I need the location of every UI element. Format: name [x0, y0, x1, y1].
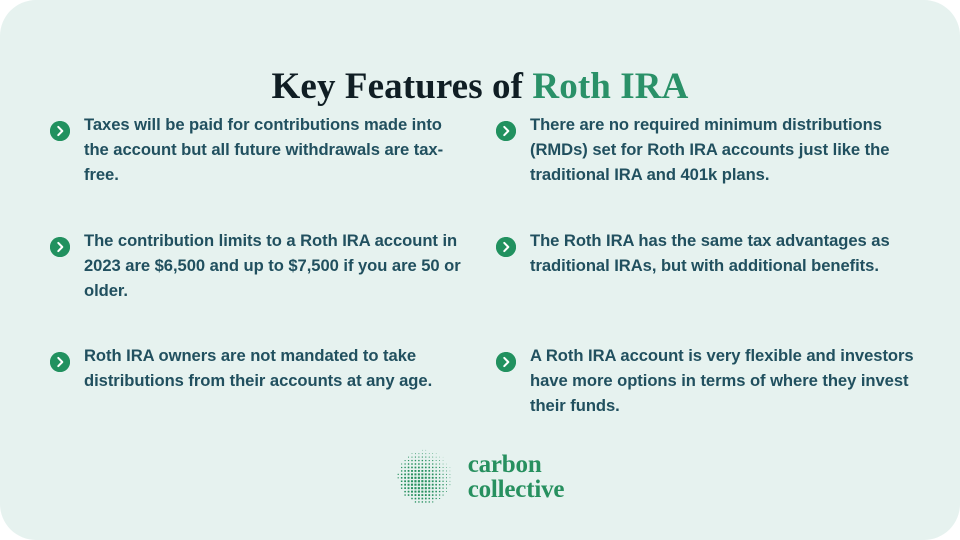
list-item-text: Taxes will be paid for contributions mad…	[84, 112, 470, 187]
logo-line-2: collective	[468, 477, 565, 502]
page-title: Key Features of Roth IRA	[0, 65, 960, 109]
list-item-text: Roth IRA owners are not mandated to take…	[84, 343, 470, 393]
list-item-text: The Roth IRA has the same tax advantages…	[530, 228, 916, 278]
infographic-card: Key Features of Roth IRA Taxes will be p…	[0, 0, 960, 540]
chevron-right-icon	[496, 237, 516, 257]
brand-logo: carbon collective	[0, 448, 960, 506]
list-item: Taxes will be paid for contributions mad…	[50, 112, 470, 216]
list-item: The Roth IRA has the same tax advantages…	[496, 228, 916, 318]
list-item-text: There are no required minimum distributi…	[530, 112, 916, 187]
list-item-text: A Roth IRA account is very flexible and …	[530, 343, 916, 418]
logo-wordmark: carbon collective	[468, 452, 565, 502]
list-item: The contribution limits to a Roth IRA ac…	[50, 228, 470, 318]
list-item-text: The contribution limits to a Roth IRA ac…	[84, 228, 470, 303]
carbon-collective-dot-circle-logo	[396, 448, 454, 506]
list-item: A Roth IRA account is very flexible and …	[496, 343, 916, 433]
chevron-right-icon	[50, 121, 70, 141]
list-item: There are no required minimum distributi…	[496, 112, 916, 216]
title-green-segment: Roth IRA	[532, 66, 688, 107]
chevron-right-icon	[496, 121, 516, 141]
left-column: Taxes will be paid for contributions mad…	[50, 112, 470, 433]
right-column: There are no required minimum distributi…	[496, 112, 916, 433]
list-item: Roth IRA owners are not mandated to take…	[50, 343, 470, 433]
logo-line-1: carbon	[468, 452, 565, 477]
title-dark-segment: Key Features of	[272, 66, 533, 107]
chevron-right-icon	[496, 352, 516, 372]
chevron-right-icon	[50, 352, 70, 372]
chevron-right-icon	[50, 237, 70, 257]
